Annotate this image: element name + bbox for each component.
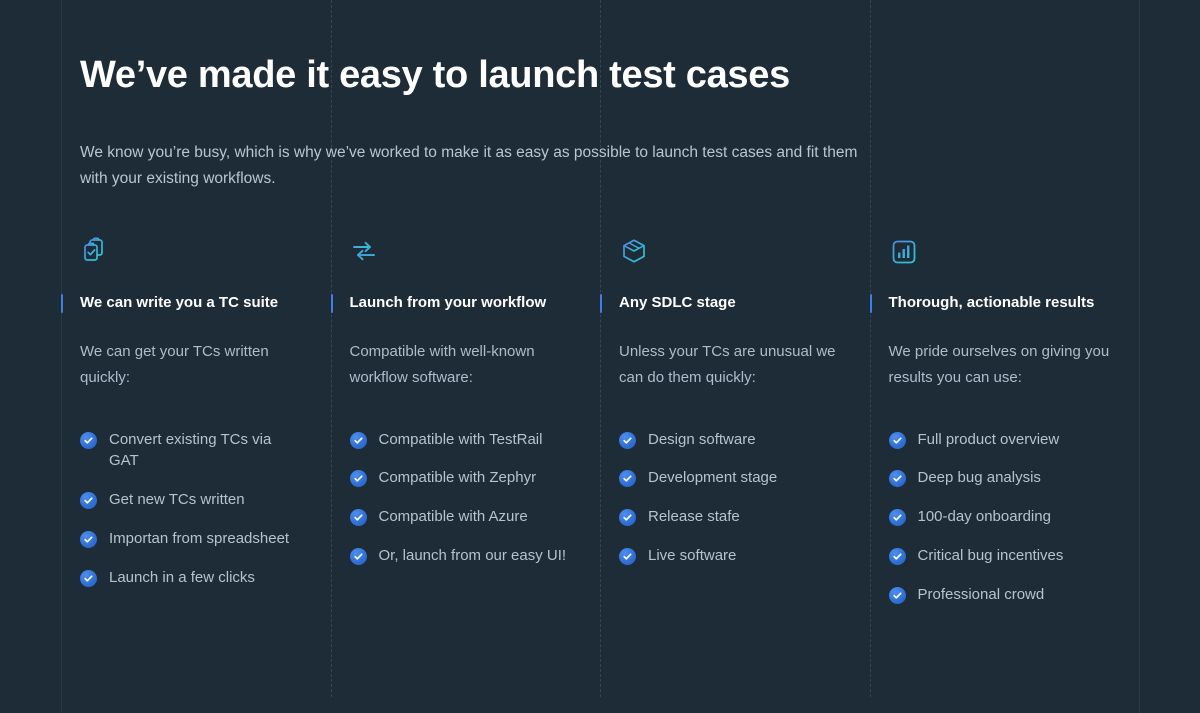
list-item: Release stafe [619, 506, 842, 528]
list-item: Compatible with Azure [350, 506, 573, 528]
feature-heading-row: We can write you a TC suite [61, 293, 303, 313]
list-item: Or, launch from our easy UI! [350, 545, 573, 567]
list-item-label: Compatible with TestRail [379, 429, 543, 451]
list-item: Professional crowd [889, 584, 1112, 606]
check-icon [350, 432, 367, 449]
list-item: Critical bug incentives [889, 545, 1112, 567]
list-item-label: Release stafe [648, 506, 740, 528]
feature-description: Compatible with well-known workflow soft… [350, 339, 573, 391]
feature-section: We’ve made it easy to launch test cases … [0, 0, 1200, 713]
check-icon [80, 432, 97, 449]
list-item-label: Compatible with Zephyr [379, 467, 537, 489]
exchange-arrows-icon [350, 237, 380, 267]
list-item-label: Live software [648, 545, 736, 567]
check-icon [619, 470, 636, 487]
list-item-label: Compatible with Azure [379, 506, 528, 528]
feature-description: We pride ourselves on giving you results… [889, 339, 1112, 391]
list-item-label: 100-day onboarding [918, 506, 1051, 528]
feature-title: We can write you a TC suite [63, 294, 278, 313]
list-item-label: Convert existing TCs via GAT [109, 429, 303, 473]
list-item-label: Critical bug incentives [918, 545, 1064, 567]
check-icon [889, 548, 906, 565]
feature-check-list: Compatible with TestRail Compatible with… [350, 429, 573, 567]
list-item-label: Full product overview [918, 429, 1060, 451]
list-item-label: Launch in a few clicks [109, 567, 255, 589]
list-item: Compatible with Zephyr [350, 467, 573, 489]
list-item-label: Get new TCs written [109, 489, 245, 511]
feature-heading-row: Any SDLC stage [600, 293, 842, 313]
check-icon [889, 509, 906, 526]
bar-chart-square-icon [889, 237, 919, 267]
check-icon [889, 587, 906, 604]
feature-column: Any SDLC stage Unless your TCs are unusu… [600, 237, 870, 605]
feature-heading-row: Launch from your workflow [331, 293, 573, 313]
cube-box-icon [619, 237, 649, 267]
page-title: We’ve made it easy to launch test cases [80, 54, 1140, 98]
feature-title: Thorough, actionable results [872, 294, 1095, 313]
feature-column: We can write you a TC suite We can get y… [61, 237, 331, 605]
page-subtitle: We know you’re busy, which is why we’ve … [80, 140, 870, 193]
list-item: Deep bug analysis [889, 467, 1112, 489]
list-item: Full product overview [889, 429, 1112, 451]
clipboard-check-copy-icon [80, 237, 110, 267]
check-icon [350, 470, 367, 487]
check-icon [350, 548, 367, 565]
feature-check-list: Design software Development stage Releas… [619, 429, 842, 567]
feature-check-list: Convert existing TCs via GAT Get new TCs… [80, 429, 303, 589]
check-icon [619, 509, 636, 526]
check-icon [889, 470, 906, 487]
list-item: 100-day onboarding [889, 506, 1112, 528]
list-item-label: Importan from spreadsheet [109, 528, 289, 550]
list-item-label: Or, launch from our easy UI! [379, 545, 567, 567]
check-icon [80, 531, 97, 548]
feature-title: Launch from your workflow [333, 294, 547, 313]
list-item-label: Design software [648, 429, 756, 451]
list-item: Design software [619, 429, 842, 451]
check-icon [80, 570, 97, 587]
list-item: Compatible with TestRail [350, 429, 573, 451]
list-item-label: Development stage [648, 467, 777, 489]
check-icon [619, 432, 636, 449]
check-icon [80, 492, 97, 509]
feature-heading-row: Thorough, actionable results [870, 293, 1112, 313]
list-item: Launch in a few clicks [80, 567, 303, 589]
feature-columns: We can write you a TC suite We can get y… [61, 237, 1140, 605]
feature-column: Launch from your workflow Compatible wit… [331, 237, 601, 605]
check-icon [619, 548, 636, 565]
list-item: Importan from spreadsheet [80, 528, 303, 550]
list-item-label: Deep bug analysis [918, 467, 1041, 489]
list-item: Convert existing TCs via GAT [80, 429, 303, 473]
feature-description: Unless your TCs are unusual we can do th… [619, 339, 842, 391]
list-item: Get new TCs written [80, 489, 303, 511]
feature-column: Thorough, actionable results We pride ou… [870, 237, 1140, 605]
feature-check-list: Full product overview Deep bug analysis … [889, 429, 1112, 606]
list-item: Live software [619, 545, 842, 567]
check-icon [350, 509, 367, 526]
list-item: Development stage [619, 467, 842, 489]
feature-description: We can get your TCs written quickly: [80, 339, 303, 391]
check-icon [889, 432, 906, 449]
feature-title: Any SDLC stage [602, 294, 736, 313]
list-item-label: Professional crowd [918, 584, 1045, 606]
